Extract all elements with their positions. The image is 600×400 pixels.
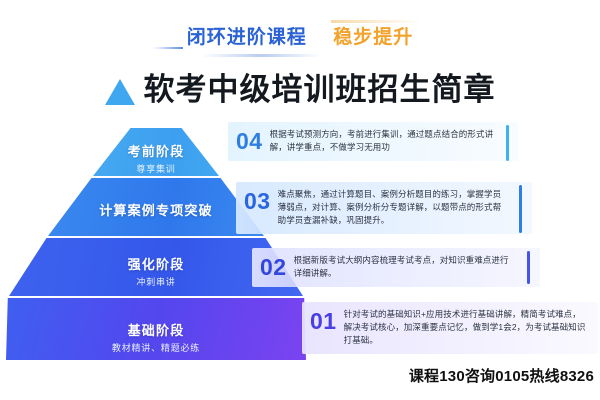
kicker-left-rule xyxy=(153,47,183,49)
triangle-icon xyxy=(105,79,135,105)
entry-04: 04 根据考试预测方向，考前进行集训，通过题点结合的形式讲解，讲学重点，不做学习… xyxy=(228,122,518,161)
kicker-orange-text: 稳步提升 xyxy=(333,27,413,48)
entry-list: 04 根据考试预测方向，考前进行集训，通过题点结合的形式讲解，讲学重点，不做学习… xyxy=(228,122,600,362)
entry-04-accent-bar xyxy=(506,125,509,161)
kicker-underline-rule xyxy=(201,54,321,57)
entry-01-description: 针对考试的基础知识+应用技术进行基础讲解，精简考试难点，解决考试核心，加深重要点… xyxy=(344,308,586,347)
entry-02: 02 根据新版考试大纲内容梳理考试考点，对知识重难点进行详细讲解。 xyxy=(252,248,540,287)
entry-04-description: 根据考试预测方向，考前进行集训，通过题点结合的形式讲解，讲学重点，不做学习无用功 xyxy=(270,128,496,154)
entry-02-description: 根据新版考试大纲内容梳理考试考点，对知识重难点进行详细讲解。 xyxy=(294,254,516,280)
entry-02-accent-bar xyxy=(527,251,530,284)
kicker-line: 闭环进阶课程 稳步提升 xyxy=(187,26,414,50)
entry-03-description: 难点聚焦，通过计算题目、案例分析题目的练习，掌握学员薄弱点，对计算、案例分析分专… xyxy=(278,188,508,227)
entry-01: 01 针对考试的基础知识+应用技术进行基础讲解，精简考试难点，解决考试核心，加深… xyxy=(302,302,598,354)
entry-01-number: 01 xyxy=(310,308,337,332)
entry-02-number: 02 xyxy=(260,254,287,278)
poster-canvas: 闭环进阶课程 稳步提升 软考中级培训班招生简章 考前阶段 尊享集训 计算案例专项… xyxy=(0,0,600,400)
page-title: 软考中级培训班招生简章 xyxy=(144,72,496,108)
watermark-text: 课程130咨询0105热线8326 xyxy=(409,365,594,386)
kicker-top-rule xyxy=(331,20,421,23)
entry-03-number: 03 xyxy=(244,188,271,212)
entry-04-number: 04 xyxy=(236,128,263,152)
entry-03-accent-bar xyxy=(519,185,522,233)
kicker-blue-text: 闭环进阶课程 xyxy=(187,27,307,48)
header: 闭环进阶课程 稳步提升 xyxy=(0,26,600,50)
entry-03: 03 难点聚焦，通过计算题目、案例分析题目的练习，掌握学员薄弱点，对计算、案例分… xyxy=(236,182,532,234)
title-row: 软考中级培训班招生简章 xyxy=(0,72,600,108)
